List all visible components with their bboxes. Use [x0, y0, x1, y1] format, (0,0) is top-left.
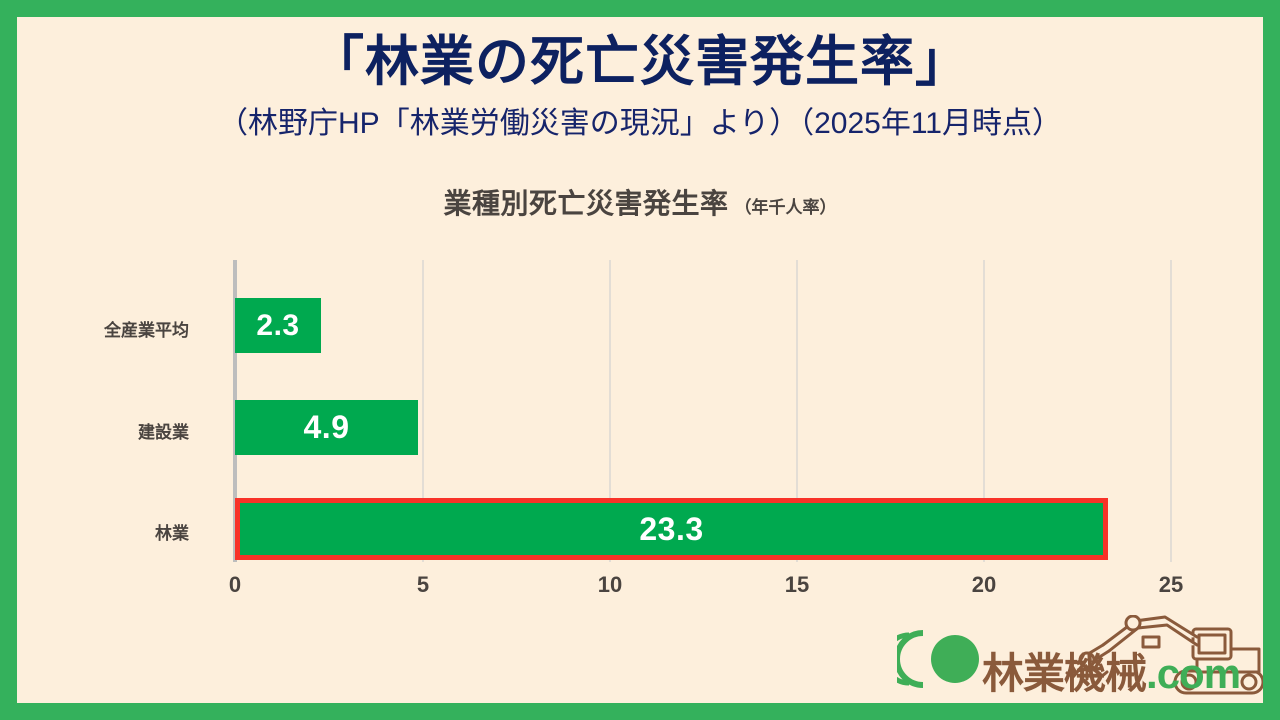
logo-circle-mark: [897, 633, 979, 685]
bar-value-0: 2.3: [235, 309, 321, 343]
category-label-1: 建設業: [49, 418, 189, 443]
x-tick-15: 15: [785, 572, 809, 598]
bar-chart-plot-area: 全産業平均 2.3 建設業 4.9 林業 23.3 0 5 10 15 20 2…: [199, 260, 1167, 565]
bar-value-1: 4.9: [235, 409, 418, 446]
x-tick-0: 0: [229, 572, 241, 598]
bar-value-2: 23.3: [240, 511, 1103, 548]
category-label-0: 全産業平均: [49, 316, 189, 341]
site-logo[interactable]: 林業機械.com: [897, 615, 1263, 703]
x-tick-5: 5: [417, 572, 429, 598]
bar-2[interactable]: 23.3: [235, 498, 1108, 560]
page-subtitle: （林野庁HP「林業労働災害の現況」より）（2025年11月時点）: [17, 106, 1263, 142]
logo-dot: .: [1146, 650, 1157, 697]
chart-title-container: 業種別死亡災害発生率（年千人率）: [17, 182, 1263, 222]
x-tick-20: 20: [972, 572, 996, 598]
x-tick-25: 25: [1159, 572, 1183, 598]
logo-wordmark: 林業機械.com: [982, 640, 1240, 701]
gridline-25: [1170, 260, 1172, 562]
category-label-2: 林業: [49, 519, 189, 544]
logo-brand-main: 林業機械: [982, 650, 1146, 697]
chart-title: 業種別死亡災害発生率: [443, 188, 728, 219]
chart-unit-note: （年千人率）: [735, 198, 837, 217]
bar-0[interactable]: 2.3: [235, 298, 321, 353]
slide-root: 「林業の死亡災害発生率」 （林野庁HP「林業労働災害の現況」より）（2025年1…: [0, 0, 1280, 720]
page-title: 「林業の死亡災害発生率」: [17, 31, 1263, 95]
bar-1[interactable]: 4.9: [235, 400, 418, 455]
x-tick-10: 10: [598, 572, 622, 598]
logo-tld: com: [1157, 650, 1240, 697]
slide-canvas: 「林業の死亡災害発生率」 （林野庁HP「林業労働災害の現況」より）（2025年1…: [17, 17, 1263, 703]
